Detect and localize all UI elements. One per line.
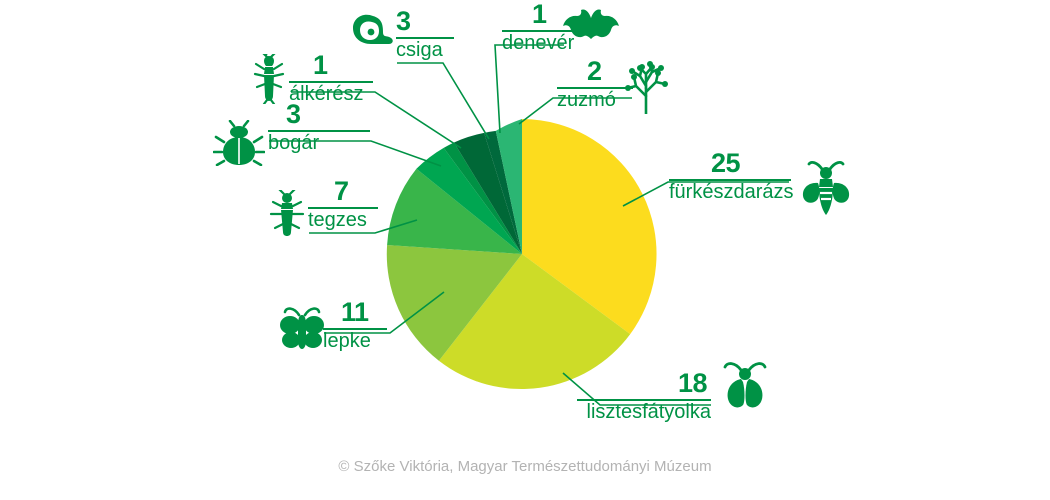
pie-chart bbox=[0, 0, 1050, 500]
label-lepke-name: lepke bbox=[323, 331, 371, 352]
label-furkeszdarazs[interactable]: 25 fürkészdarázs bbox=[669, 150, 793, 203]
label-lisztesfatyolka[interactable]: 18 lisztesfátyolka bbox=[577, 370, 711, 423]
snail-icon bbox=[349, 10, 395, 52]
credit-text: © Szőke Viktória, Magyar Természettudomá… bbox=[0, 458, 1050, 475]
label-alkeresz-value: 1 bbox=[313, 52, 328, 79]
label-bogar-name: bogár bbox=[268, 133, 319, 154]
label-lepke[interactable]: 11 lepke bbox=[323, 299, 389, 352]
label-tegzes-value: 7 bbox=[334, 178, 349, 205]
label-lepke-value: 11 bbox=[341, 299, 369, 326]
butterfly-icon bbox=[276, 305, 328, 351]
label-zuzmo-value: 2 bbox=[587, 58, 602, 85]
label-furkeszdarazs-name: fürkészdarázs bbox=[669, 182, 794, 203]
label-csiga[interactable]: 3 csiga bbox=[396, 8, 458, 61]
stonefly-icon bbox=[251, 54, 287, 104]
beetle-icon bbox=[213, 120, 265, 166]
label-alkeresz[interactable]: 1 álkérész bbox=[289, 52, 375, 105]
label-bogar-value: 3 bbox=[286, 101, 301, 128]
label-denever-value: 1 bbox=[532, 1, 547, 28]
label-csiga-name: csiga bbox=[396, 40, 443, 61]
bat-icon bbox=[562, 6, 620, 52]
label-furkeszdarazs-value: 25 bbox=[711, 150, 740, 177]
lichen-icon bbox=[618, 58, 674, 114]
label-bogar[interactable]: 3 bogár bbox=[268, 101, 372, 154]
label-csiga-value: 3 bbox=[396, 8, 411, 35]
label-lisztesfatyolka-value: 18 bbox=[678, 370, 707, 397]
whitefly-icon bbox=[719, 360, 771, 412]
caddisfly-icon bbox=[268, 190, 306, 238]
wasp-icon bbox=[799, 160, 853, 218]
label-tegzes[interactable]: 7 tegzes bbox=[308, 178, 380, 231]
label-zuzmo-name: zuzmó bbox=[557, 90, 616, 111]
leader-line-csiga bbox=[397, 63, 489, 139]
label-tegzes-name: tegzes bbox=[308, 210, 367, 231]
pie-slices bbox=[387, 119, 657, 389]
infographic-canvas: 3 csiga 1 denevér 1 álkérész 2 zuzmó 3 b… bbox=[0, 0, 1050, 500]
label-lisztesfatyolka-name: lisztesfátyolka bbox=[587, 402, 712, 423]
